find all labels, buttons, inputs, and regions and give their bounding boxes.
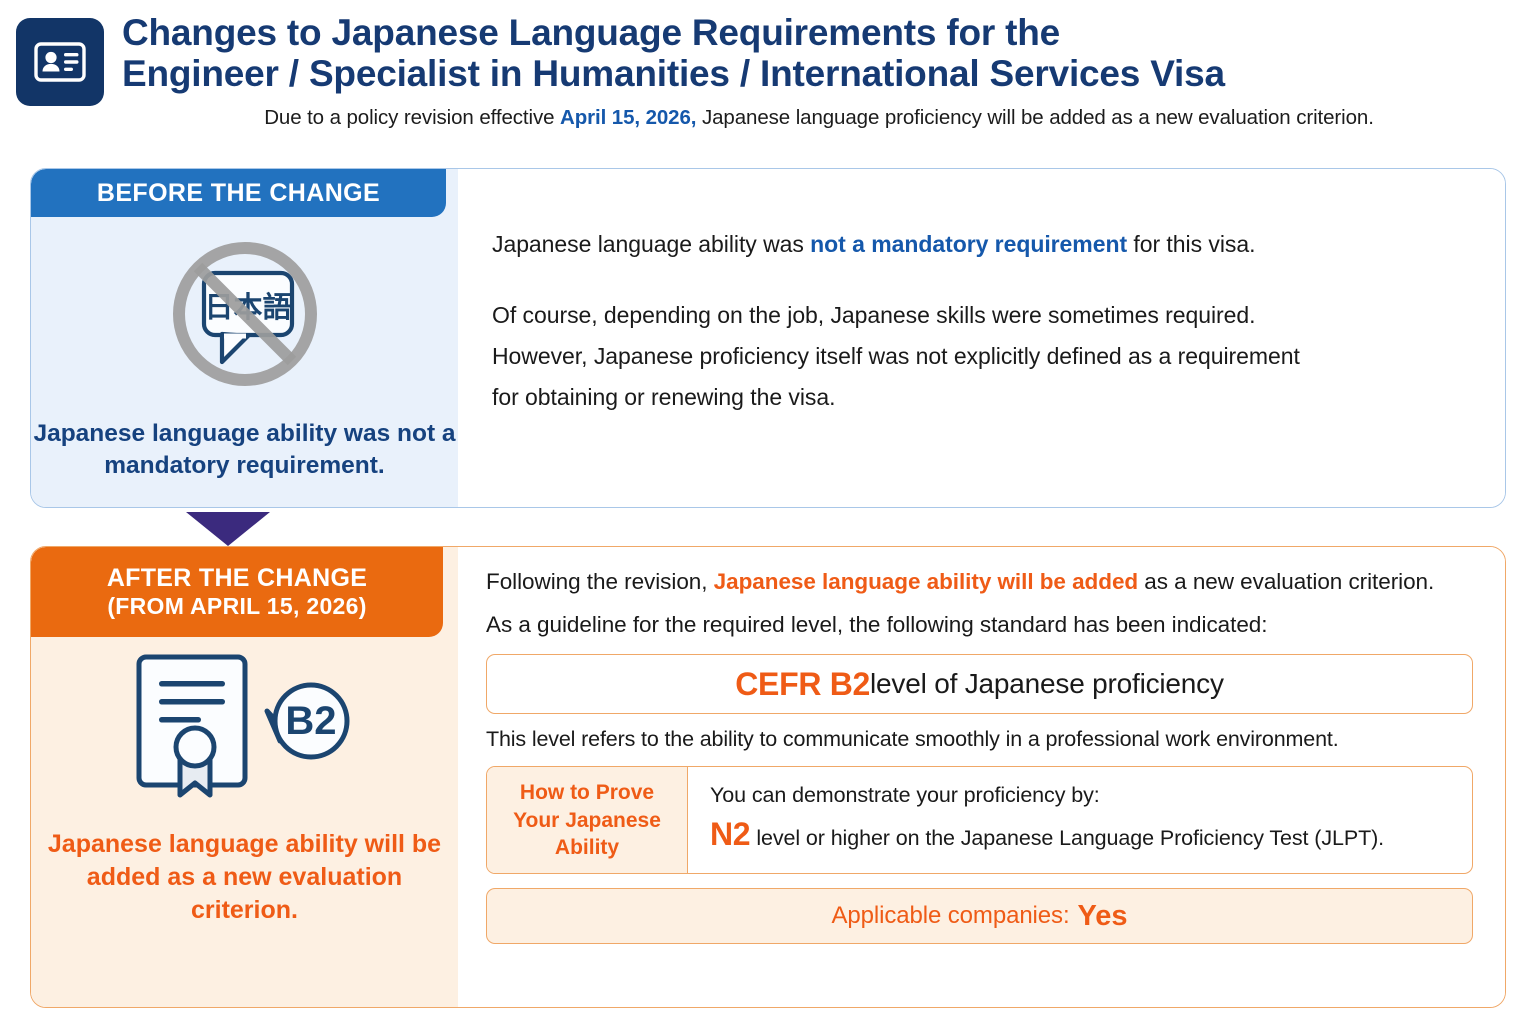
id-card-icon (16, 18, 104, 106)
down-arrow-icon (186, 512, 270, 546)
cefr-note: This level refers to the ability to comm… (486, 727, 1473, 752)
subtitle: Due to a policy revision effective April… (122, 106, 1516, 130)
cefr-level-box: CEFR B2 level of Japanese proficiency (486, 654, 1473, 714)
before-p1-highlight: not a mandatory requirement (810, 231, 1127, 257)
how-to-prove-label: How to Prove Your Japanese Ability (487, 767, 688, 873)
subtitle-post: Japanese language proficiency will be ad… (696, 106, 1373, 129)
subtitle-effective-date: April 15, 2026, (560, 106, 696, 129)
title-line-2: Engineer / Specialist in Humanities / In… (122, 53, 1225, 94)
before-the-change-card: BEFORE THE CHANGE 日本語 Japan (30, 168, 1506, 508)
title-line-1: Changes to Japanese Language Requirement… (122, 12, 1060, 53)
prove-detail-row: N2 level or higher on the Japanese Langu… (710, 816, 1472, 853)
before-p2-line-2: However, Japanese proficiency itself was… (492, 343, 1300, 369)
before-p1-post: for this visa. (1127, 231, 1255, 257)
after-l1-pre: Following the revision, (486, 569, 714, 594)
cefr-level-value: CEFR B2 (735, 666, 870, 703)
prove-intro-text: You can demonstrate your proficiency by: (710, 783, 1472, 808)
subtitle-pre: Due to a policy revision effective (264, 106, 560, 129)
after-body: Following the revision, Japanese languag… (458, 547, 1505, 1007)
paragraph-spacer (492, 265, 1465, 295)
before-p2-line-1: Of course, depending on the job, Japanes… (492, 302, 1255, 328)
no-japanese-speech-bubble-icon: 日本語 (162, 231, 328, 402)
before-body: Japanese language ability was not a mand… (458, 169, 1505, 507)
before-tab-header: BEFORE THE CHANGE (31, 169, 446, 217)
header-text: Changes to Japanese Language Requirement… (122, 12, 1516, 130)
applicable-companies-value: Yes (1078, 900, 1128, 933)
prove-label-line-2: Your Japanese (513, 807, 661, 834)
after-line-1: Following the revision, Japanese languag… (486, 567, 1473, 598)
after-tab-label-line-2: (FROM APRIL 15, 2026) (107, 593, 366, 620)
after-line-2: As a guideline for the required level, t… (486, 610, 1473, 641)
after-caption-wrap: Japanese language ability will be added … (31, 828, 458, 927)
infographic-page: Changes to Japanese Language Requirement… (0, 0, 1536, 1024)
after-l1-post: as a new evaluation criterion. (1138, 569, 1434, 594)
after-tab-label-line-1: AFTER THE CHANGE (107, 564, 367, 593)
after-left-column: AFTER THE CHANGE (FROM APRIL 15, 2026) (31, 547, 458, 1007)
before-caption: Japanese language ability was not a mand… (31, 418, 458, 483)
b2-badge-text: B2 (285, 699, 336, 743)
cefr-level-description: level of Japanese proficiency (870, 668, 1224, 700)
after-caption: Japanese language ability will be added … (31, 828, 458, 927)
header: Changes to Japanese Language Requirement… (0, 0, 1536, 130)
page-title: Changes to Japanese Language Requirement… (122, 12, 1516, 95)
before-caption-wrap: Japanese language ability was not a mand… (31, 418, 458, 483)
how-to-prove-body: You can demonstrate your proficiency by:… (688, 767, 1472, 873)
jlpt-level-value: N2 (710, 816, 750, 853)
before-tab-label: BEFORE THE CHANGE (97, 179, 380, 208)
after-tab-header: AFTER THE CHANGE (FROM APRIL 15, 2026) (31, 547, 443, 637)
after-the-change-card: AFTER THE CHANGE (FROM APRIL 15, 2026) (30, 546, 1506, 1008)
before-p2-line-3: for obtaining or renewing the visa. (492, 384, 835, 410)
how-to-prove-box: How to Prove Your Japanese Ability You c… (486, 766, 1473, 874)
jlpt-level-description: level or higher on the Japanese Language… (756, 826, 1384, 851)
applicable-companies-label: Applicable companies: (831, 902, 1069, 930)
after-l1-highlight: Japanese language ability will be added (714, 569, 1138, 594)
prove-label-line-1: How to Prove (520, 779, 654, 806)
applicable-companies-box: Applicable companies: Yes (486, 888, 1473, 944)
before-left-column: BEFORE THE CHANGE 日本語 Japan (31, 169, 458, 507)
before-p1-pre: Japanese language ability was (492, 231, 810, 257)
before-paragraph-2: Of course, depending on the job, Japanes… (492, 295, 1465, 418)
prove-label-line-3: Ability (555, 834, 619, 861)
certificate-b2-icon: B2 (117, 649, 373, 804)
before-paragraph-1: Japanese language ability was not a mand… (492, 224, 1465, 265)
